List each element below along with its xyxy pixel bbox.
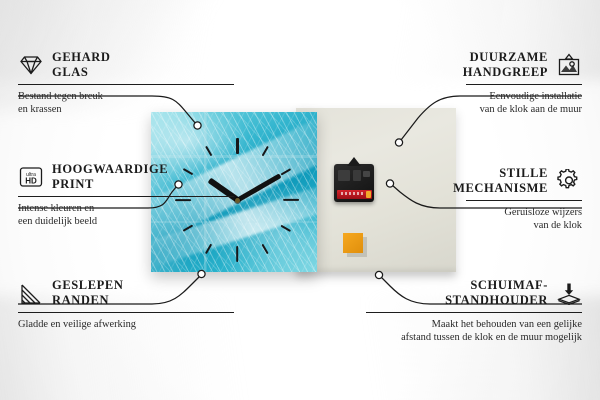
feature-header: STILLE MECHANISME bbox=[466, 166, 582, 196]
feature-header: GESLEPEN RANDEN bbox=[18, 278, 234, 308]
feature-header: DUURZAME HANDGREEP bbox=[466, 50, 582, 80]
clock-tick bbox=[281, 168, 291, 175]
mechanism-slot-b bbox=[353, 170, 361, 181]
feature-description: Maakt het behouden van een gelijke afsta… bbox=[366, 318, 582, 345]
feature-gehard-glas: GEHARD GLAS Bestand tegen breuk en krass… bbox=[18, 50, 234, 117]
feature-duurzame-handgreep: DUURZAME HANDGREEP Eenvoudige installati… bbox=[466, 50, 582, 117]
gear-icon bbox=[556, 169, 582, 193]
feature-divider bbox=[466, 84, 582, 85]
feature-title: GEHARD GLAS bbox=[52, 50, 110, 80]
infographic-canvas: GEHARD GLAS Bestand tegen breuk en krass… bbox=[0, 0, 600, 400]
battery-label bbox=[341, 192, 363, 195]
feature-description: Eenvoudige installatie van de klok aan d… bbox=[366, 90, 582, 117]
feature-header: SCHUIMAF- STANDHOUDER bbox=[366, 278, 582, 308]
battery bbox=[337, 190, 372, 199]
feature-header: GEHARD GLAS bbox=[18, 50, 234, 80]
feature-geslepen-randen: GESLEPEN RANDEN Gladde en veilige afwerk… bbox=[18, 278, 234, 331]
feature-description: Gladde en veilige afwerking bbox=[18, 318, 234, 332]
feature-stille-mechanisme: STILLE MECHANISME Geruisloze wijzers van… bbox=[466, 166, 582, 233]
feature-description: Intense kleuren en een duidelijk beeld bbox=[18, 202, 234, 229]
mechanism-hanger-tab bbox=[347, 157, 361, 166]
clock-tick bbox=[236, 138, 238, 154]
feature-description: Bestand tegen breuk en krassen bbox=[18, 90, 234, 117]
feature-divider bbox=[18, 312, 234, 313]
mechanism-slot-a bbox=[338, 170, 350, 181]
feature-divider bbox=[466, 200, 582, 201]
feature-description: Geruisloze wijzers van de klok bbox=[366, 206, 582, 233]
feature-divider bbox=[18, 196, 234, 197]
mechanism-slot-c bbox=[363, 171, 370, 177]
clock-tick bbox=[205, 146, 212, 156]
clock-hub bbox=[235, 198, 240, 203]
feature-title: DUURZAME HANDGREEP bbox=[463, 50, 548, 80]
feature-header: ultra HD HOOGWAARDIGE PRINT bbox=[18, 162, 234, 192]
ultra-hd-icon: ultra HD bbox=[18, 165, 44, 189]
clock-tick bbox=[205, 244, 212, 254]
feature-hoogwaardige-print: ultra HD HOOGWAARDIGE PRINT Intense kleu… bbox=[18, 162, 234, 229]
clock-tick bbox=[262, 244, 269, 254]
clock-tick bbox=[236, 246, 238, 262]
clock-minute-hand bbox=[236, 173, 282, 202]
foam-spacer-icon bbox=[556, 281, 582, 305]
hanging-frame-icon bbox=[556, 53, 582, 77]
feature-divider bbox=[18, 84, 234, 85]
diamond-icon bbox=[18, 53, 44, 77]
feature-schuimafstandhouder: SCHUIMAF- STANDHOUDER Maakt het behouden… bbox=[366, 278, 582, 345]
clock-tick bbox=[283, 199, 299, 201]
polished-edges-icon bbox=[18, 281, 44, 305]
clock-tick bbox=[281, 225, 291, 232]
feature-title: SCHUIMAF- STANDHOUDER bbox=[445, 278, 548, 308]
feature-divider bbox=[366, 312, 582, 313]
glass-clock-back-image bbox=[296, 108, 456, 272]
svg-text:HD: HD bbox=[25, 176, 37, 185]
feature-title: STILLE MECHANISME bbox=[453, 166, 548, 196]
foam-spacer-pad bbox=[343, 233, 363, 253]
feature-title: HOOGWAARDIGE PRINT bbox=[52, 162, 168, 192]
clock-mechanism bbox=[334, 164, 374, 202]
feature-title: GESLEPEN RANDEN bbox=[52, 278, 124, 308]
clock-tick bbox=[262, 146, 269, 156]
